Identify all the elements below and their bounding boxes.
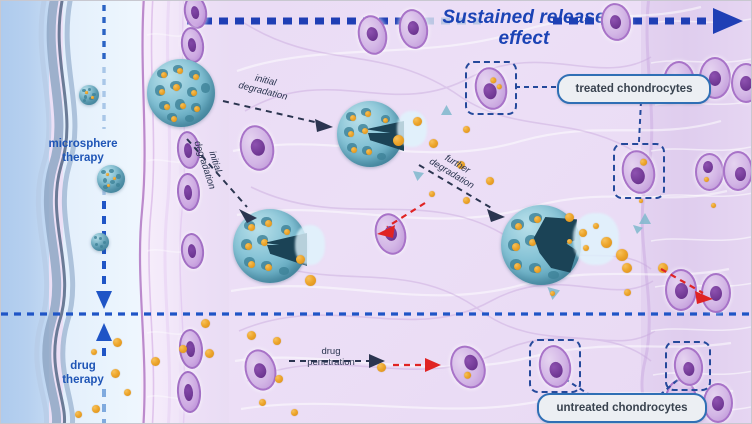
microsphere-degrading-center — [337, 101, 403, 167]
drug-particle — [273, 337, 281, 345]
drug-particle — [463, 197, 470, 204]
drug-particle — [75, 411, 82, 418]
treated-chondrocytes-callout[interactable]: treated chondrocytes — [557, 74, 711, 104]
drug-particle — [296, 255, 305, 264]
drug-particle — [583, 245, 589, 251]
deep-chondrocyte — [665, 269, 697, 311]
drug-particle — [113, 338, 122, 347]
drug-particle — [601, 237, 612, 248]
drug-particle — [393, 135, 404, 146]
drug-particle — [205, 349, 214, 358]
drug-particle — [305, 275, 316, 286]
page-title: Sustained release effect — [419, 7, 629, 50]
drug-particle — [463, 126, 470, 133]
drug-particle — [179, 345, 187, 353]
drug-particle — [377, 363, 386, 372]
drug-particle — [111, 369, 120, 378]
drug-particle — [91, 349, 97, 355]
drug-penetration-label: drug penetration — [289, 346, 373, 369]
drug-particle — [247, 331, 256, 340]
microsphere-small-1 — [79, 85, 99, 105]
deep-chondrocyte — [701, 273, 731, 313]
drug-particle — [201, 319, 210, 328]
drug-particle — [593, 223, 599, 229]
drug-particle — [429, 191, 435, 197]
drug-particle — [291, 409, 298, 416]
drug-particle — [622, 263, 632, 273]
drug-particle — [550, 291, 555, 296]
drug-particle — [259, 399, 266, 406]
deep-chondrocyte — [695, 153, 724, 191]
drug-particle — [429, 139, 438, 148]
drug-particle — [579, 229, 587, 237]
microsphere-small-2 — [97, 165, 125, 193]
release-burst — [573, 213, 619, 265]
drug-therapy-label: drug therapy — [23, 359, 143, 387]
drug-particle — [151, 357, 160, 366]
drug-particle — [275, 375, 283, 383]
drug-particle — [658, 263, 668, 273]
drug-particle — [639, 199, 643, 203]
drug-particle — [567, 239, 572, 244]
drug-particle — [616, 249, 628, 261]
drug-particle — [624, 289, 631, 296]
untreated-chondrocytes-callout[interactable]: untreated chondrocytes — [537, 393, 707, 423]
figure-canvas: Sustained release effect microsphere the… — [0, 0, 752, 424]
drug-particle — [711, 203, 716, 208]
drug-particle — [92, 405, 100, 413]
drug-particle — [413, 117, 422, 126]
microsphere-intact — [147, 59, 215, 127]
drug-particle — [124, 389, 131, 396]
microsphere-therapy-label: microsphere therapy — [23, 137, 143, 165]
drug-particle — [565, 213, 574, 222]
deep-chondrocyte — [723, 151, 752, 191]
drug-particle — [486, 177, 494, 185]
